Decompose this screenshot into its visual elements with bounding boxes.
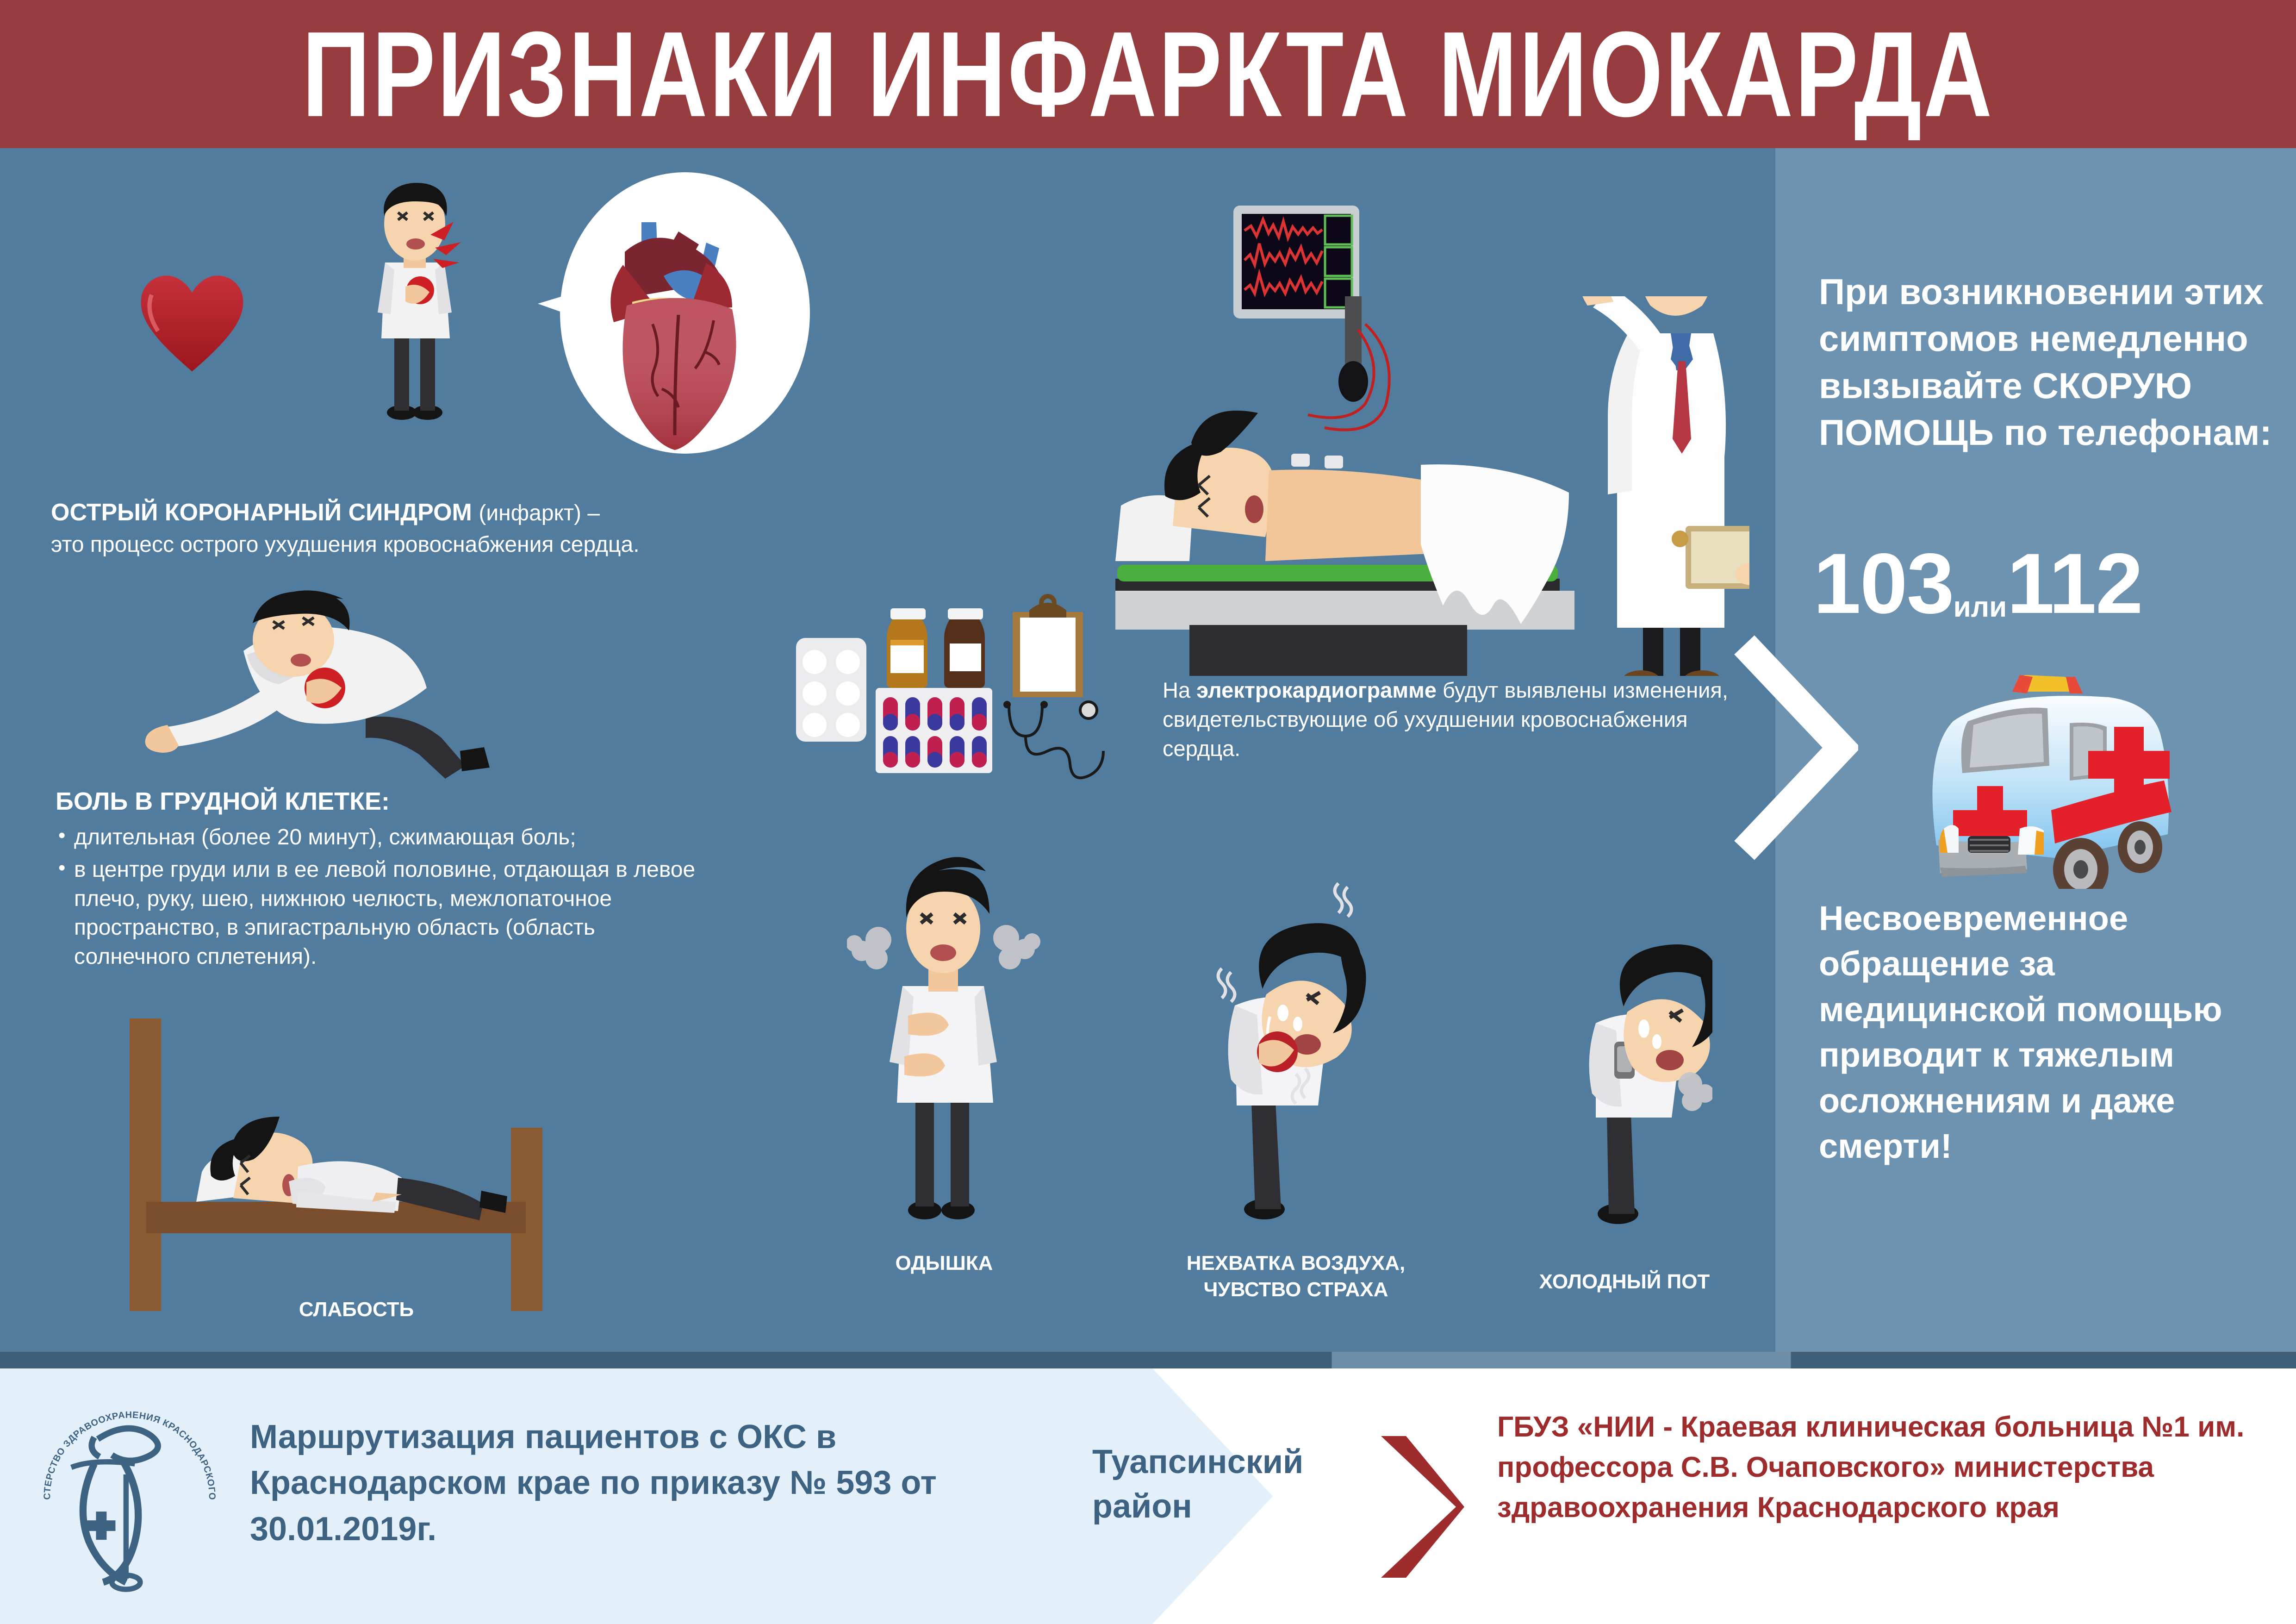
emergency-warning-text: Несвоевременное обращение за медицинской…	[1819, 896, 2286, 1169]
phone-separator: или	[1954, 591, 2007, 623]
ecg-caption-bold: электрокардиограмме	[1196, 678, 1437, 702]
acs-heading: ОСТРЫЙ КОРОНАРНЫЙ СИНДРОМ (инфаркт) –	[51, 498, 722, 528]
footer-region-name: Туапсинский район	[1092, 1440, 1296, 1529]
ecg-caption-text: На электрокардиограмме будут выявлены из…	[1163, 676, 1741, 763]
acs-text-block: ОСТРЫЙ КОРОНАРНЫЙ СИНДРОМ (инфаркт) – эт…	[51, 498, 722, 559]
acs-heading-paren: (инфаркт) –	[479, 501, 600, 525]
man-cold-sweat-illustration	[1518, 903, 1712, 1227]
man-in-bed-illustration	[93, 1009, 583, 1324]
list-item: длительная (более 20 минут), сжимающая б…	[56, 823, 713, 852]
ambulance-illustration	[1851, 671, 2268, 889]
caption-weakness: СЛАБОСТЬ	[148, 1296, 565, 1323]
phone-number-112: 112	[2007, 536, 2142, 631]
chest-pain-heading: БОЛЬ В ГРУДНОЙ КЛЕТКЕ:	[56, 787, 713, 816]
chest-pain-list: длительная (более 20 минут), сжимающая б…	[56, 823, 713, 971]
man-air-hunger-illustration	[1166, 880, 1370, 1222]
man-collapsing-illustration	[134, 569, 541, 787]
acs-heading-main: ОСТРЫЙ КОРОНАРНЫЙ СИНДРОМ	[51, 499, 472, 526]
footer-routing-text: Маршрутизация пациентов с ОКС в Краснода…	[250, 1414, 1037, 1552]
phone-number-103: 103	[1813, 536, 1954, 631]
man-shortness-of-breath-illustration	[847, 847, 1041, 1222]
caption-air-hunger: НЕХВАТКА ВОЗДУХА,ЧУВСТВО СТРАХА	[1097, 1250, 1495, 1303]
chest-pain-text-block: БОЛЬ В ГРУДНОЙ КЛЕТКЕ: длительная (более…	[56, 787, 713, 975]
caption-cold-sweat: ХОЛОДНЫЙ ПОТ	[1472, 1268, 1777, 1295]
emergency-lead-text: При возникновении этих симптомов немедле…	[1819, 269, 2286, 456]
caption-shortness-of-breath: ОДЫШКА	[787, 1250, 1101, 1276]
acs-body: это процесс острого ухудшения кровоснабж…	[51, 531, 722, 559]
medicines-illustration	[787, 579, 1111, 787]
heart-anatomy-callout	[523, 167, 819, 463]
list-item: в центре груди или в ее левой половине, …	[56, 856, 713, 971]
footer-hospital-name: ГБУЗ «НИИ - Краевая клиническая больница…	[1497, 1407, 2261, 1528]
infographic-poster: ПРИЗНАКИ ИНФАРКТА МИОКАРДА	[0, 0, 2296, 1624]
ecg-caption-block: На электрокардиограмме будут выявлены из…	[1163, 676, 1741, 763]
page-title: ПРИЗНАКИ ИНФАРКТА МИОКАРДА	[302, 13, 1994, 135]
emergency-phone-numbers: 103или112	[1813, 535, 2290, 633]
patient-and-doctor-illustration	[1088, 296, 1749, 676]
man-chest-pain-illustration	[305, 174, 500, 424]
chevron-right-red-icon	[1370, 1430, 1467, 1583]
ministry-logo: МИНИСТЕРСТВО ЗДРАВООХРАНЕНИЯ КРАСНОДАРСК…	[32, 1391, 227, 1595]
footer-divider	[0, 1352, 2296, 1368]
heart-icon	[139, 271, 245, 377]
chevron-right-icon	[1733, 634, 1858, 861]
header-bar: ПРИЗНАКИ ИНФАРКТА МИОКАРДА	[0, 0, 2296, 148]
